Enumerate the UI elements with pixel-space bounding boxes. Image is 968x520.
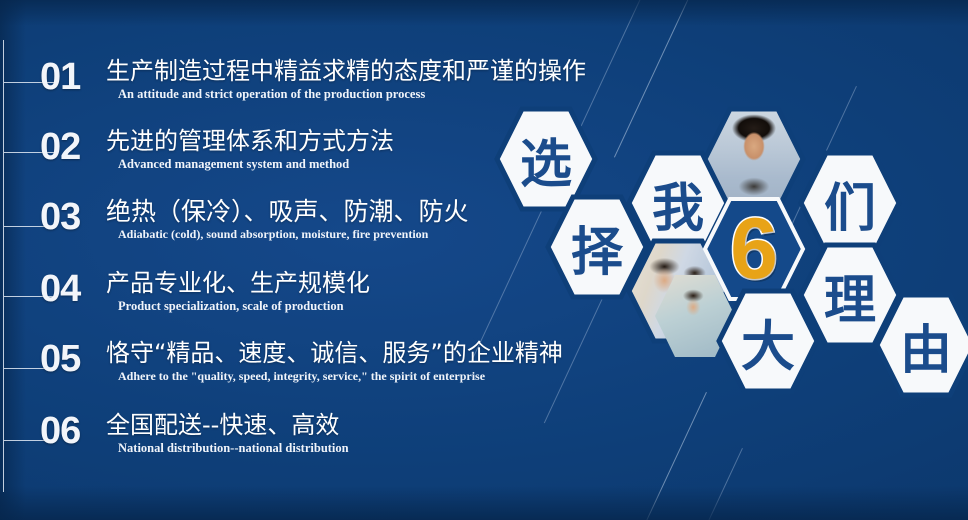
list-item-number: 03 xyxy=(40,198,102,236)
list-item-title-cn: 全国配送--快速、高效 xyxy=(106,412,349,439)
list-item-subtitle-en: National distribution--national distribu… xyxy=(106,440,349,456)
list-item-title-cn: 先进的管理体系和方式方法 xyxy=(106,128,394,155)
list-item[interactable]: 02 先进的管理体系和方式方法 Advanced management syst… xyxy=(40,128,394,172)
hex-cell-six[interactable]: 6 xyxy=(702,196,806,302)
list-item-number: 04 xyxy=(40,270,102,308)
list-item-subtitle-en: Adhere to the "quality, speed, integrity… xyxy=(106,368,563,384)
list-item-title-cn: 恪守“精品、速度、诚信、服务”的企业精神 xyxy=(106,340,563,367)
list-item-subtitle-en: Adiabatic (cold), sound absorption, mois… xyxy=(106,226,469,242)
hex-cell-you[interactable]: 由 xyxy=(874,292,968,398)
list-item-title-cn: 产品专业化、生产规模化 xyxy=(106,270,370,297)
list-item[interactable]: 06 全国配送--快速、高效 National distribution--na… xyxy=(40,412,349,456)
vertical-rail xyxy=(3,40,4,492)
list-item[interactable]: 04 产品专业化、生产规模化 Product specialization, s… xyxy=(40,270,370,314)
list-item-number: 05 xyxy=(40,340,102,378)
list-item-number: 01 xyxy=(40,58,102,96)
list-item-subtitle-en: Advanced management system and method xyxy=(106,156,394,172)
list-item-number: 06 xyxy=(40,412,102,450)
list-item-subtitle-en: An attitude and strict operation of the … xyxy=(106,86,586,102)
list-item-title-cn: 绝热（保冷）、吸声、防潮、防火 xyxy=(106,198,469,225)
list-item[interactable]: 05 恪守“精品、速度、诚信、服务”的企业精神 Adhere to the "q… xyxy=(40,340,563,384)
hex-cell-men[interactable]: 们 xyxy=(798,150,902,256)
list-item-subtitle-en: Product specialization, scale of product… xyxy=(106,298,370,314)
list-item-number: 02 xyxy=(40,128,102,166)
poster-canvas: 选 择 我 xyxy=(0,0,968,520)
list-item-title-cn: 生产制造过程中精益求精的态度和严谨的操作 xyxy=(106,58,586,85)
list-item[interactable]: 03 绝热（保冷）、吸声、防潮、防火 Adiabatic (cold), sou… xyxy=(40,198,469,242)
list-item[interactable]: 01 生产制造过程中精益求精的态度和严谨的操作 An attitude and … xyxy=(40,58,586,102)
